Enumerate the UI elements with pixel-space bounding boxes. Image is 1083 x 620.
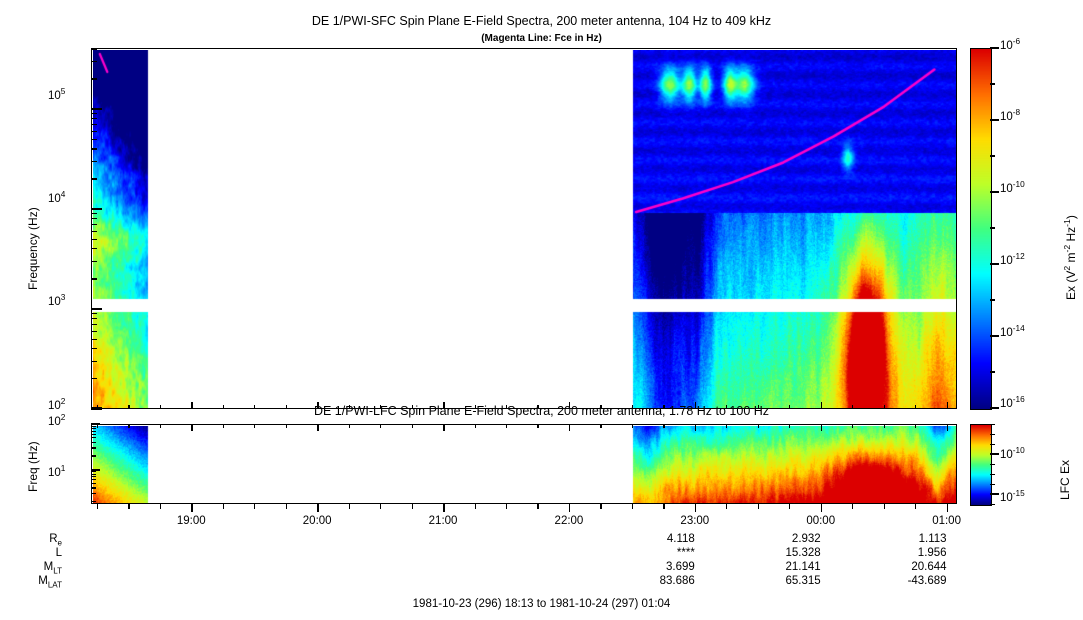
x-axis-major-tick — [695, 504, 697, 512]
sfc-y-major-tick — [91, 407, 102, 409]
lfc-top-tick — [852, 424, 853, 428]
sfc-colorbar-tick-mark — [990, 47, 999, 49]
ephemeris-value: 83.686 — [635, 575, 695, 587]
sfc-colorbar-tick: 10-14 — [1000, 327, 1025, 339]
sfc-colorbar-tick-mark — [990, 407, 999, 409]
lfc-top-tick — [789, 424, 790, 428]
x-axis-tick-label: 20:00 — [293, 515, 341, 527]
x-axis-tick-label: 00:00 — [797, 515, 845, 527]
ephemeris-value: 1.956 — [887, 547, 947, 559]
top-panel-subtitle: (Magenta Line: Fce in Hz) — [0, 33, 1083, 44]
lfc-top-tick — [821, 424, 823, 431]
lfc-y-major-tick — [91, 423, 100, 425]
sfc-colorbar-tick-mark — [990, 371, 995, 372]
sfc-bottom-tick — [254, 405, 255, 409]
lfc-top-tick — [443, 424, 445, 431]
sfc-colorbar-tick: 10-6 — [1000, 40, 1020, 52]
sfc-bottom-tick — [223, 405, 224, 409]
sfc-bottom-tick — [160, 405, 161, 409]
x-axis-major-tick — [569, 504, 571, 512]
ephemeris-value: 21.141 — [761, 561, 821, 573]
sfc-colorbar-tick-mark — [990, 191, 999, 193]
lfc-y-tick-label: 101 — [48, 467, 65, 479]
lfc-panel-title: DE 1/PWI-LFC Spin Plane E-Field Spectra,… — [0, 404, 1083, 418]
ephemeris-value: -43.689 — [887, 575, 947, 587]
lfc-top-tick — [254, 424, 255, 428]
lfc-y-minor-tick — [91, 476, 96, 477]
lfc-colorbar-tick-mark — [990, 504, 995, 505]
lfc-y-minor-tick — [91, 434, 96, 435]
sfc-y-minor-tick — [91, 178, 97, 179]
lfc-y-minor-tick — [91, 426, 96, 427]
sfc-colorbar[interactable] — [970, 48, 992, 410]
lfc-y-minor-tick — [91, 431, 96, 432]
sfc-y-minor-tick — [91, 313, 97, 314]
sfc-bottom-tick — [286, 405, 287, 409]
lfc-top-tick — [160, 424, 161, 428]
sfc-bottom-tick — [821, 402, 823, 409]
x-axis-minor-tick — [254, 504, 255, 509]
x-axis-minor-tick — [915, 504, 916, 509]
sfc-bottom-tick — [475, 405, 476, 409]
sfc-bottom-tick — [915, 405, 916, 409]
lfc-colorbar-tick-mark — [990, 434, 995, 435]
lfc-colorbar-tick-mark — [990, 424, 995, 425]
sfc-bottom-tick — [380, 405, 381, 409]
lfc-top-tick — [475, 424, 476, 428]
sfc-colorbar-tick-mark — [990, 119, 999, 121]
sfc-y-minor-tick — [91, 331, 97, 332]
sfc-bottom-tick — [600, 405, 601, 409]
lfc-top-tick — [884, 424, 885, 428]
lfc-colorbar[interactable] — [970, 424, 992, 506]
sfc-bottom-tick — [947, 402, 949, 409]
sfc-y-minor-tick — [91, 339, 97, 340]
lfc-y-minor-tick — [91, 447, 96, 448]
sfc-bottom-tick — [632, 405, 633, 409]
sfc-y-minor-tick — [91, 124, 97, 125]
lfc-top-tick — [600, 424, 601, 428]
x-axis-minor-tick — [349, 504, 350, 509]
ephemeris-row-label-sub: e — [58, 538, 62, 547]
sfc-y-minor-tick — [91, 318, 97, 319]
x-axis-minor-tick — [789, 504, 790, 509]
lfc-y-minor-tick — [91, 474, 96, 475]
lfc-y-minor-tick — [91, 471, 96, 472]
ephemeris-row-label: MLT — [0, 561, 62, 573]
sfc-y-major-tick — [91, 308, 102, 310]
sfc-bottom-tick — [758, 405, 759, 409]
x-axis-minor-tick — [726, 504, 727, 509]
x-axis-minor-tick — [852, 504, 853, 509]
sfc-y-minor-tick — [91, 213, 97, 214]
ephemeris-value: 1.113 — [887, 533, 947, 545]
ephemeris-row-label-main: L — [56, 547, 62, 559]
sfc-colorbar-tick: 10-8 — [1000, 111, 1020, 123]
sfc-y-minor-tick — [91, 139, 97, 140]
lfc-top-tick — [191, 424, 193, 431]
sfc-bottom-tick — [412, 405, 413, 409]
lfc-top-tick — [947, 424, 949, 431]
sfc-y-axis-label: Frequency (Hz) — [26, 207, 40, 290]
lfc-top-tick — [695, 424, 697, 431]
lfc-colorbar-tick-mark — [990, 493, 999, 495]
x-axis-minor-tick — [97, 504, 98, 509]
lfc-colorbar-tick-mark — [990, 444, 995, 445]
ephemeris-row-label-main: R — [49, 533, 57, 545]
sfc-y-minor-tick — [91, 113, 97, 114]
lfc-top-tick — [286, 424, 287, 428]
x-axis-minor-tick — [128, 504, 129, 509]
lfc-y-minor-tick — [91, 479, 96, 480]
lfc-top-tick — [758, 424, 759, 428]
x-axis-tick-label: 23:00 — [671, 515, 719, 527]
lfc-top-tick — [569, 424, 571, 431]
x-axis-major-tick — [443, 504, 445, 512]
sfc-bottom-tick — [317, 402, 319, 409]
sfc-y-minor-tick — [91, 348, 97, 349]
x-axis-minor-tick — [506, 504, 507, 509]
sfc-y-major-tick — [91, 108, 102, 110]
sfc-bottom-tick — [349, 405, 350, 409]
lfc-colorbar-tick: 10-15 — [1000, 492, 1025, 504]
lfc-spectrogram-image[interactable] — [93, 426, 956, 503]
lfc-y-minor-tick — [91, 493, 96, 494]
footer-date-range: 1981-10-23 (296) 18:13 to 1981-10-24 (29… — [0, 598, 1083, 610]
sfc-bottom-tick — [569, 402, 571, 409]
sfc-y-minor-tick — [91, 248, 97, 249]
lfc-y-minor-tick — [91, 483, 96, 484]
ephemeris-row-label: MLAT — [0, 575, 62, 587]
x-axis-minor-tick — [632, 504, 633, 509]
x-axis-major-tick — [821, 504, 823, 512]
x-axis-major-tick — [191, 504, 193, 512]
sfc-y-minor-tick — [91, 161, 97, 162]
sfc-bottom-tick — [789, 405, 790, 409]
lfc-top-tick — [223, 424, 224, 428]
x-axis-minor-tick — [884, 504, 885, 509]
lfc-top-tick — [537, 424, 538, 428]
lfc-y-minor-tick — [91, 437, 96, 438]
x-axis-tick-label: 21:00 — [419, 515, 467, 527]
lfc-colorbar-tick-mark — [990, 453, 999, 455]
lfc-top-tick — [128, 424, 129, 428]
lfc-colorbar-tick-mark — [990, 474, 995, 475]
top-panel-title: DE 1/PWI-SFC Spin Plane E-Field Spectra,… — [0, 14, 1083, 28]
sfc-colorbar-tick-mark — [990, 299, 995, 300]
sfc-colorbar-tick-mark — [990, 155, 995, 156]
x-axis-major-tick — [317, 504, 319, 512]
sfc-y-minor-tick — [91, 361, 97, 362]
lfc-top-tick — [380, 424, 381, 428]
ephemeris-value: 20.644 — [887, 561, 947, 573]
sfc-bottom-tick — [537, 405, 538, 409]
lfc-y-minor-tick — [91, 455, 96, 456]
sfc-y-minor-tick — [91, 78, 97, 79]
lfc-top-tick — [632, 424, 633, 428]
x-axis-minor-tick — [475, 504, 476, 509]
sfc-y-major-tick — [91, 208, 102, 210]
x-axis-minor-tick — [412, 504, 413, 509]
lfc-colorbar-tick: 10-10 — [1000, 449, 1025, 461]
sfc-bottom-tick — [506, 405, 507, 409]
lfc-top-tick — [726, 424, 727, 428]
ephemeris-value: 65.315 — [761, 575, 821, 587]
lfc-y-tick-label: 102 — [48, 416, 65, 428]
x-axis-minor-tick — [758, 504, 759, 509]
ephemeris-value: **** — [635, 547, 695, 559]
sfc-y-minor-tick — [91, 118, 97, 119]
sfc-y-minor-tick — [91, 224, 97, 225]
sfc-y-minor-tick — [91, 131, 97, 132]
lfc-top-tick — [412, 424, 413, 428]
x-axis-minor-tick — [663, 504, 664, 509]
lfc-top-tick — [317, 424, 319, 431]
sfc-colorbar-label: Ex (V2 m-2 Hz-1) — [1064, 215, 1078, 300]
sfc-y-tick-label: 103 — [48, 296, 65, 308]
ephemeris-row-label-main: M — [38, 575, 48, 587]
lfc-top-tick — [506, 424, 507, 428]
lfc-top-tick — [349, 424, 350, 428]
sfc-bottom-tick — [128, 405, 129, 409]
sfc-bottom-tick — [443, 402, 445, 409]
lfc-y-minor-tick — [91, 501, 96, 502]
ephemeris-value: 15.328 — [761, 547, 821, 559]
sfc-bottom-tick — [191, 402, 193, 409]
sfc-bottom-tick — [884, 405, 885, 409]
x-axis-minor-tick — [223, 504, 224, 509]
sfc-y-minor-tick — [91, 61, 97, 62]
sfc-spectrogram-image[interactable] — [93, 50, 956, 408]
sfc-bottom-tick — [663, 405, 664, 409]
lfc-top-tick — [663, 424, 664, 428]
x-axis-minor-tick — [537, 504, 538, 509]
ephemeris-value: 2.932 — [761, 533, 821, 545]
sfc-y-tick-label: 105 — [48, 90, 65, 102]
ephemeris-row-label: L — [0, 547, 62, 559]
sfc-colorbar-tick: 10-12 — [1000, 255, 1025, 267]
sfc-bottom-tick — [852, 405, 853, 409]
x-axis-minor-tick — [380, 504, 381, 509]
sfc-colorbar-tick-mark — [990, 335, 999, 337]
ephemeris-row-label-sub: LAT — [48, 580, 62, 589]
ephemeris-row-label: Re — [0, 533, 62, 545]
x-axis-tick-label: 22:00 — [545, 515, 593, 527]
sfc-y-minor-tick — [91, 324, 97, 325]
sfc-y-minor-tick — [91, 48, 97, 49]
x-axis-tick-label: 19:00 — [167, 515, 215, 527]
lfc-y-minor-tick — [91, 428, 96, 429]
sfc-y-minor-tick — [91, 218, 97, 219]
sfc-y-minor-tick — [91, 261, 97, 262]
x-axis-tick-label: 01:00 — [923, 515, 971, 527]
lfc-y-minor-tick — [91, 442, 96, 443]
x-axis-minor-tick — [600, 504, 601, 509]
x-axis-major-tick — [947, 504, 949, 512]
sfc-y-minor-tick — [91, 148, 97, 149]
lfc-colorbar-tick-mark — [990, 464, 995, 465]
ephemeris-row-label-sub: LT — [53, 566, 62, 575]
ephemeris-value: 3.699 — [635, 561, 695, 573]
sfc-y-minor-tick — [91, 231, 97, 232]
x-axis-minor-tick — [160, 504, 161, 509]
sfc-colorbar-tick: 10-10 — [1000, 183, 1025, 195]
lfc-top-tick — [915, 424, 916, 428]
sfc-colorbar-tick-mark — [990, 263, 999, 265]
sfc-colorbar-tick-mark — [990, 83, 995, 84]
ephemeris-value: 4.118 — [635, 533, 695, 545]
lfc-colorbar-label: LFC Ex — [1058, 460, 1072, 500]
x-axis-minor-tick — [286, 504, 287, 509]
sfc-y-tick-label: 104 — [48, 193, 65, 205]
lfc-y-axis-label: Freq (Hz) — [26, 441, 40, 492]
sfc-bottom-tick — [726, 405, 727, 409]
lfc-y-major-tick — [91, 469, 100, 471]
sfc-bottom-tick — [695, 402, 697, 409]
sfc-y-minor-tick — [91, 239, 97, 240]
lfc-y-minor-tick — [91, 487, 96, 488]
lfc-colorbar-tick-mark — [990, 484, 995, 485]
sfc-colorbar-tick-mark — [990, 227, 995, 228]
sfc-y-minor-tick — [91, 278, 97, 279]
sfc-y-minor-tick — [91, 378, 97, 379]
ephemeris-row-label-main: M — [44, 561, 54, 573]
